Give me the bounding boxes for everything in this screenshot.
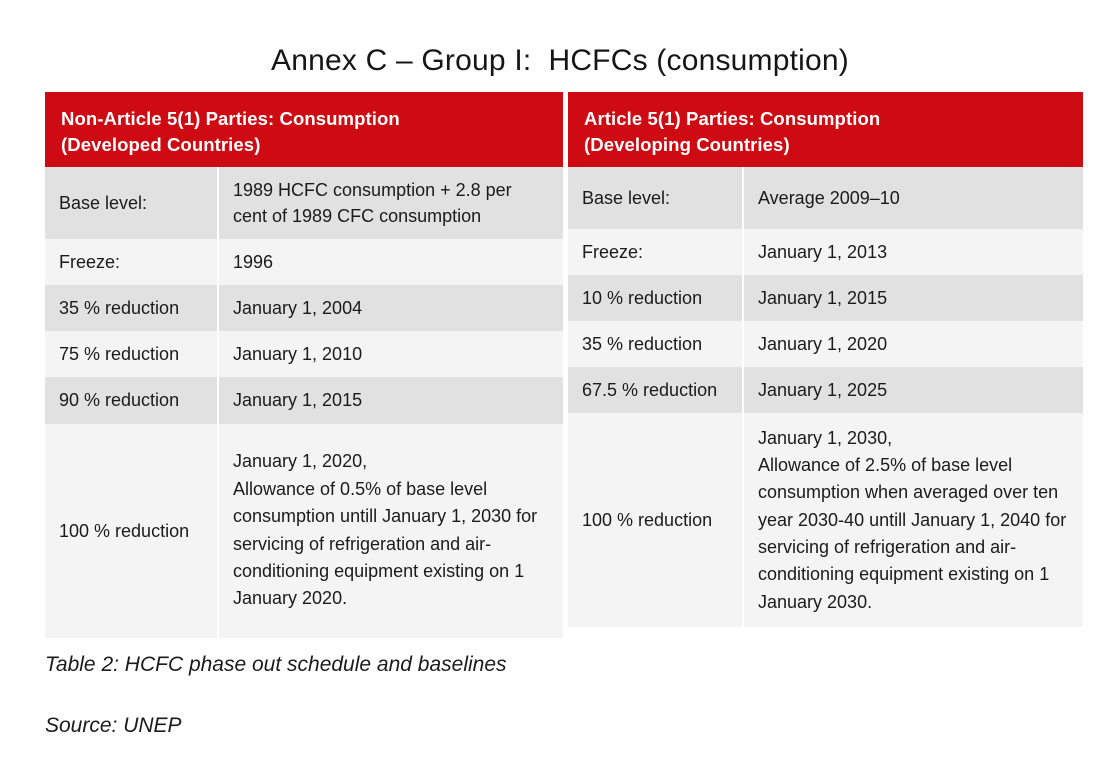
row-value: January 1, 2030, Allowance of 2.5% of ba… xyxy=(742,413,1083,627)
table-row: Base level: 1989 HCFC consumption + 2.8 … xyxy=(45,167,563,239)
table-body-article5: Base level: Average 2009–10 Freeze: Janu… xyxy=(568,167,1083,627)
row-label: 67.5 % reduction xyxy=(568,367,742,413)
table-row: 100 % reduction January 1, 2030, Allowan… xyxy=(568,413,1083,627)
caption-line-title: Table 2: HCFC phase out schedule and bas… xyxy=(45,650,945,680)
row-label: 90 % reduction xyxy=(45,377,217,423)
row-value: January 1, 2020 xyxy=(742,321,1083,367)
table-row: Freeze: 1996 xyxy=(45,239,563,285)
table-header-article5: Article 5(1) Parties: Consumption (Devel… xyxy=(568,92,1083,167)
table-row: Freeze: January 1, 2013 xyxy=(568,229,1083,275)
row-value: January 1, 2013 xyxy=(742,229,1083,275)
row-label: 75 % reduction xyxy=(45,331,217,377)
row-label: 35 % reduction xyxy=(568,321,742,367)
table-row: 10 % reduction January 1, 2015 xyxy=(568,275,1083,321)
row-label: Base level: xyxy=(568,167,742,229)
row-value: January 1, 2004 xyxy=(217,285,563,331)
row-value: January 1, 2010 xyxy=(217,331,563,377)
table-row: 75 % reduction January 1, 2010 xyxy=(45,331,563,377)
row-label: 100 % reduction xyxy=(45,424,217,638)
table-body-non-article5: Base level: 1989 HCFC consumption + 2.8 … xyxy=(45,167,563,638)
table-row: 35 % reduction January 1, 2020 xyxy=(568,321,1083,367)
row-label: 10 % reduction xyxy=(568,275,742,321)
table-row: 100 % reduction January 1, 2020, Allowan… xyxy=(45,424,563,638)
table-header-non-article5: Non-Article 5(1) Parties: Consumption (D… xyxy=(45,92,563,167)
row-label: 100 % reduction xyxy=(568,413,742,627)
row-value: Average 2009–10 xyxy=(742,167,1083,229)
row-label: 35 % reduction xyxy=(45,285,217,331)
row-value: January 1, 2015 xyxy=(217,377,563,423)
row-label: Base level: xyxy=(45,167,217,239)
table-half-article5: Article 5(1) Parties: Consumption (Devel… xyxy=(568,92,1083,613)
page-title: Annex C – Group I: HCFCs (consumption) xyxy=(0,44,1120,77)
hcfc-schedule-table: Non-Article 5(1) Parties: Consumption (D… xyxy=(45,92,1083,613)
table-row: 67.5 % reduction January 1, 2025 xyxy=(568,367,1083,413)
table-half-non-article5: Non-Article 5(1) Parties: Consumption (D… xyxy=(45,92,563,613)
row-value: January 1, 2020, Allowance of 0.5% of ba… xyxy=(217,424,563,638)
row-label: Freeze: xyxy=(45,239,217,285)
table-row: 35 % reduction January 1, 2004 xyxy=(45,285,563,331)
caption-line-source: Source: UNEP xyxy=(45,711,945,741)
table-row: 90 % reduction January 1, 2015 xyxy=(45,377,563,423)
page-root: Annex C – Group I: HCFCs (consumption) N… xyxy=(0,0,1120,747)
row-value: 1989 HCFC consumption + 2.8 per cent of … xyxy=(217,167,563,239)
row-value: January 1, 2015 xyxy=(742,275,1083,321)
row-value: 1996 xyxy=(217,239,563,285)
table-caption: Table 2: HCFC phase out schedule and bas… xyxy=(45,620,945,772)
row-label: Freeze: xyxy=(568,229,742,275)
row-value: January 1, 2025 xyxy=(742,367,1083,413)
table-row: Base level: Average 2009–10 xyxy=(568,167,1083,229)
